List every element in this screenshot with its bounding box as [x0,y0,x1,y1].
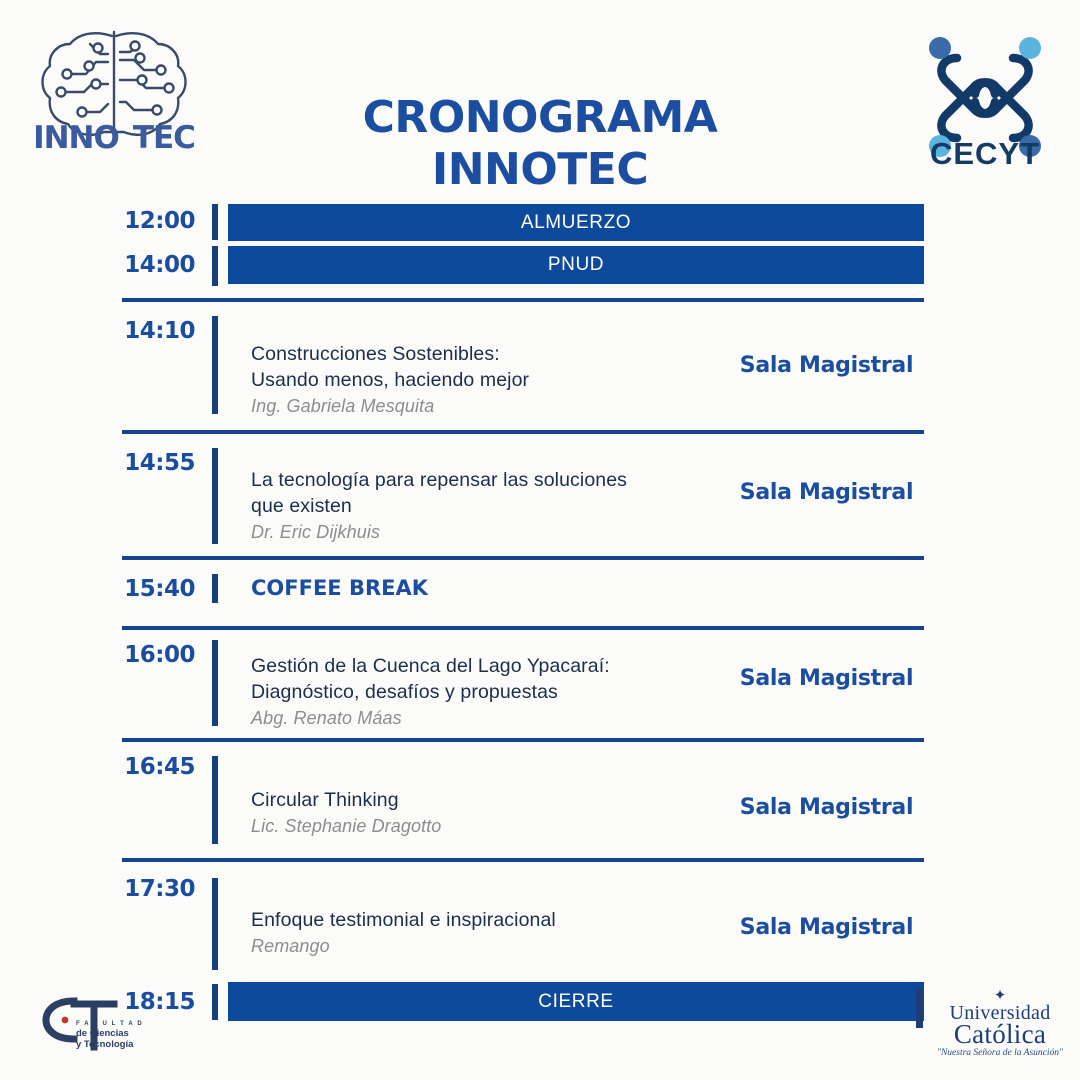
fct-line-3: y Tecnología [76,1039,171,1050]
row-talk: Circular Thinking Lic. Stephanie Dragott… [251,788,721,839]
row-tick [212,878,218,970]
page-title: CRONOGRAMA INNOTEC [240,92,840,196]
row-divider [122,556,924,560]
talk-title-line-2: que existen [251,494,721,520]
row-time: 12:00 [110,208,195,234]
talk-title-line-1: La tecnología para repensar las solucion… [251,468,721,494]
row-talk: Enfoque testimonial e inspiracional Rema… [251,908,721,959]
talk-speaker: Lic. Stephanie Dragotto [251,815,721,839]
row-divider [122,430,924,434]
schedule-row: 17:30 Enfoque testimonial e inspiraciona… [0,858,1080,980]
talk-speaker: Ing. Gabriela Mesquita [251,395,721,419]
talk-room: Sala Magistral [724,353,929,378]
talk-room: Sala Magistral [724,666,929,691]
row-bar-label: CIERRE [228,982,924,1021]
talk-speaker: Abg. Renato Máas [251,707,721,731]
row-talk: La tecnología para repensar las solucion… [251,468,721,545]
cecyt-dot-top-left [929,37,951,59]
schedule-row: 14:00 PNUD [0,240,1080,298]
row-tick [212,246,218,286]
innotec-word-right: TEC [133,120,195,156]
talk-room: Sala Magistral [724,795,929,820]
row-time: 15:40 [110,576,195,602]
row-time: 14:55 [110,450,195,476]
uc-side-bar [916,988,923,1028]
row-divider [122,858,924,862]
universidad-catolica-logo: ✦ Universidad Católica "Nuestra Señora d… [925,988,1075,1066]
row-bar-label: ALMUERZO [228,204,924,241]
row-tick [212,756,218,844]
row-tick [212,640,218,726]
schedule-row: 14:55 La tecnología para repensar las so… [0,430,1080,556]
row-divider [122,738,924,742]
row-divider [122,298,924,302]
schedule-row: 16:45 Circular Thinking Lic. Stephanie D… [0,738,1080,858]
schedule-row: 15:40 COFFEE BREAK [0,556,1080,626]
fct-line-2: de Ciencias [76,1028,171,1039]
row-bar-label: PNUD [228,246,924,284]
schedule-row: 16:00 Gestión de la Cuenca del Lago Ypac… [0,626,1080,738]
title-line-2: INNOTEC [240,144,840,196]
uc-line-2: Católica [925,1019,1075,1050]
row-time: 14:10 [110,318,195,344]
uc-line-3: "Nuestra Señora de la Asunción" [925,1048,1075,1058]
talk-title-line-1: Enfoque testimonial e inspiracional [251,908,721,934]
row-time: 16:45 [110,754,195,780]
row-talk: Construcciones Sostenibles: Usando menos… [251,342,721,419]
schedule-row: 14:10 Construcciones Sostenibles: Usando… [0,298,1080,430]
cecyt-dot-top-right [1019,37,1041,59]
talk-title-line-1: Circular Thinking [251,788,721,814]
talk-speaker: Remango [251,935,721,959]
row-talk: Gestión de la Cuenca del Lago Ypacaraí: … [251,654,721,731]
row-tick [212,316,218,414]
talk-room: Sala Magistral [724,915,929,940]
fct-line-1: F A C U L T A D [76,1021,171,1028]
talk-title-line-2: Diagnóstico, desafíos y propuestas [251,680,721,706]
row-tick [212,984,218,1020]
talk-title-line-1: Construcciones Sostenibles: [251,342,721,368]
row-tick [212,448,218,544]
row-time: 17:30 [110,876,195,902]
talk-title-line-2: Usando menos, haciendo mejor [251,368,721,394]
row-divider [122,626,924,630]
row-time: 14:00 [110,252,195,278]
innotec-wordmark: INNO TEC [34,115,194,161]
innotec-word-left: INNO [33,120,119,156]
fct-wordmark: F A C U L T A D de Ciencias y Tecnología [76,1021,171,1050]
row-time: 16:00 [110,642,195,668]
schedule-list: 12:00 ALMUERZO 14:00 PNUD 14:10 Construc… [0,196,1080,1030]
talk-title-line-1: Gestión de la Cuenca del Lago Ypacaraí: [251,654,721,680]
break-label: COFFEE BREAK [251,576,428,600]
talk-room: Sala Magistral [724,480,929,505]
cecyt-wordmark: CECYT [915,136,1055,172]
talk-speaker: Dr. Eric Dijkhuis [251,521,721,545]
star-icon: ✦ [925,988,1075,1003]
title-line-1: CRONOGRAMA [240,92,840,144]
schedule-row: 12:00 ALMUERZO [0,196,1080,240]
row-tick [212,574,218,603]
header: INNO TEC CECYT CRONOGRAMA INNOTEC [0,0,1080,195]
row-tick [212,204,218,240]
